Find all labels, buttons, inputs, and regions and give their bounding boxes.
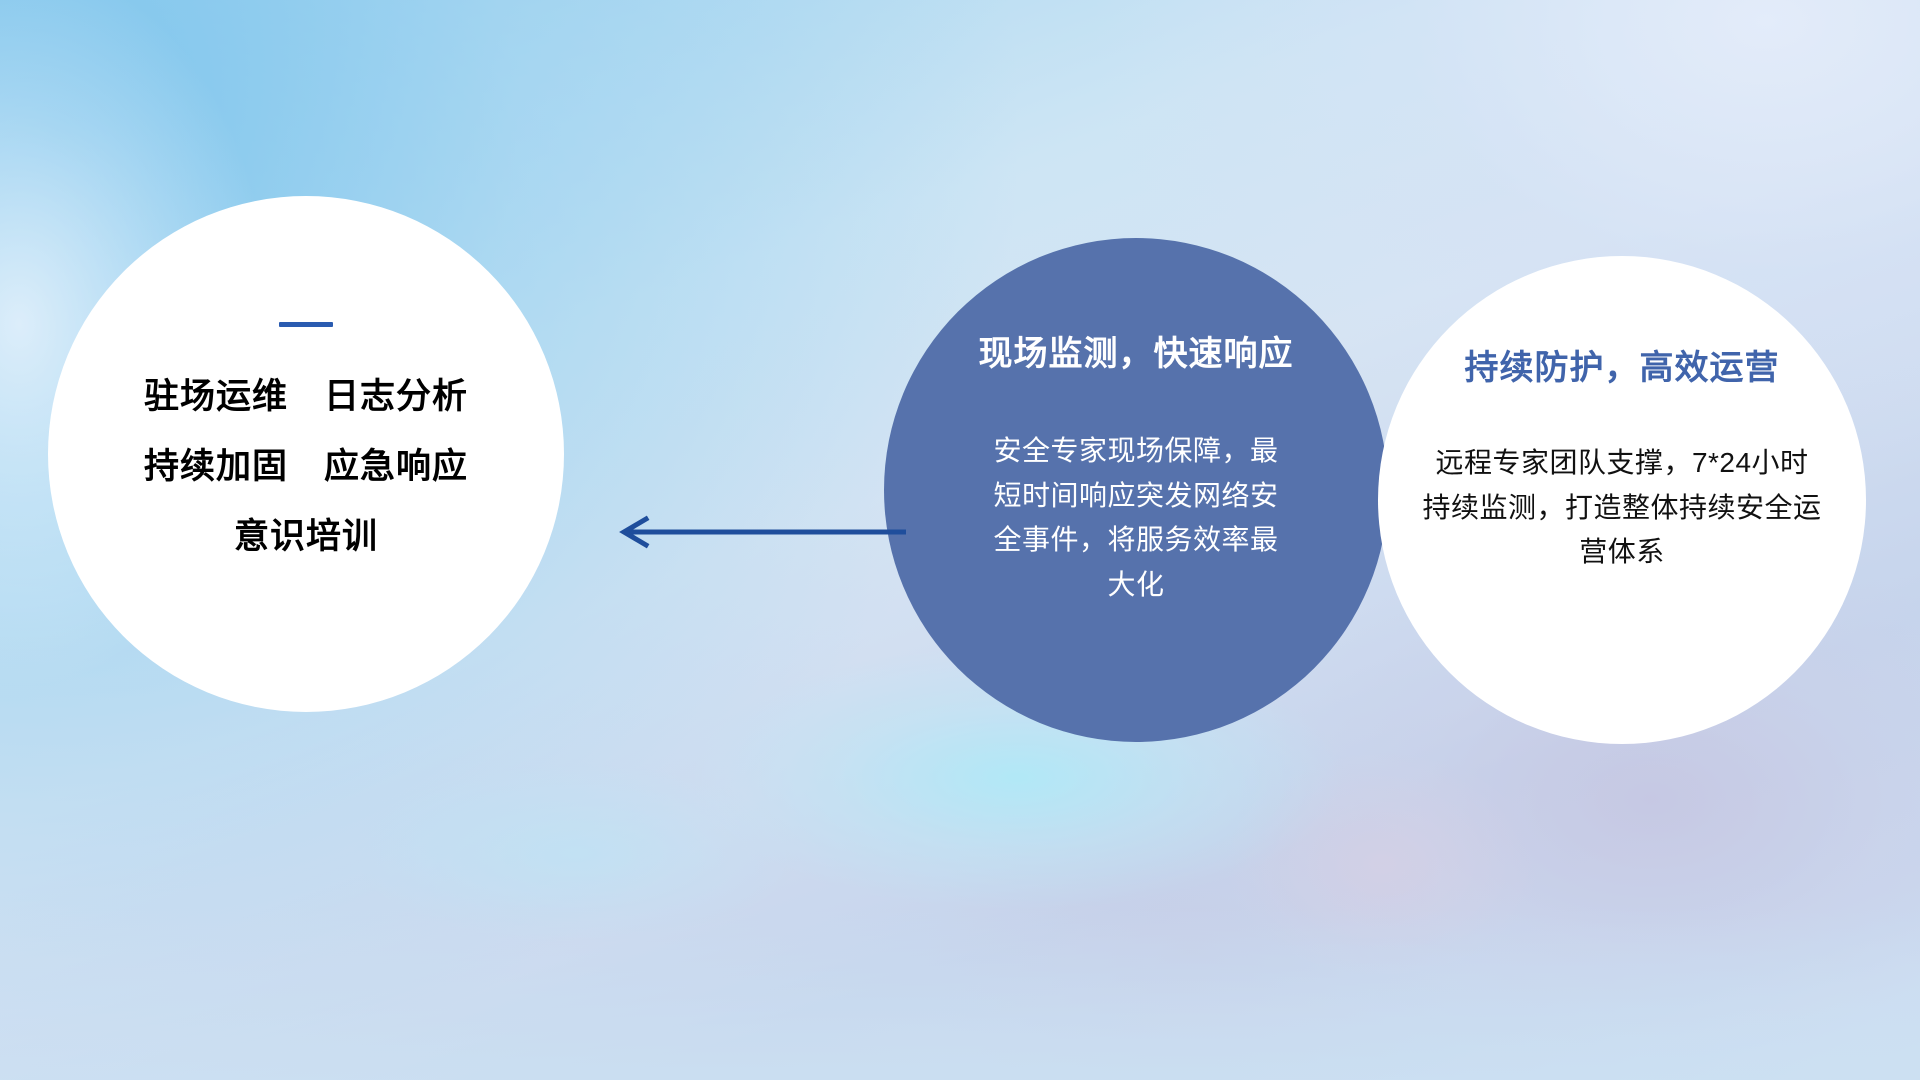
divider-dash-icon xyxy=(279,322,333,327)
capability-tag[interactable]: 应急响应 xyxy=(324,449,468,484)
flow-arrow-left xyxy=(608,512,908,552)
onsite-monitoring-body: 安全专家现场保障，最短时间响应突发网络安全事件，将服务效率最大化 xyxy=(986,429,1286,608)
onsite-monitoring-content: 现场监测，快速响应 安全专家现场保障，最短时间响应突发网络安全事件，将服务效率最… xyxy=(884,238,1388,742)
capability-row-1: 驻场运维 日志分析 xyxy=(144,379,468,414)
continuous-protection-body: 远程专家团队支撑，7*24小时持续监测，打造整体持续安全运营体系 xyxy=(1422,441,1822,575)
continuous-protection-content: 持续防护，高效运营 远程专家团队支撑，7*24小时持续监测，打造整体持续安全运营… xyxy=(1378,256,1866,744)
capability-tag[interactable]: 日志分析 xyxy=(324,379,468,414)
capability-tag[interactable]: 驻场运维 xyxy=(144,379,288,414)
onsite-monitoring-title: 现场监测，快速响应 xyxy=(979,334,1294,375)
continuous-protection-title: 持续防护，高效运营 xyxy=(1465,348,1780,389)
slide-canvas: 驻场运维 日志分析 持续加固 应急响应 意识培训 现场监测，快速响应 安全专家现… xyxy=(0,0,1920,1080)
capability-row-3: 意识培训 xyxy=(234,519,378,554)
capability-tag[interactable]: 意识培训 xyxy=(234,519,378,554)
capability-row-2: 持续加固 应急响应 xyxy=(144,449,468,484)
capability-tag[interactable]: 持续加固 xyxy=(144,449,288,484)
capabilities-content: 驻场运维 日志分析 持续加固 应急响应 意识培训 xyxy=(48,196,564,712)
flow-arrow-icon xyxy=(608,512,908,552)
